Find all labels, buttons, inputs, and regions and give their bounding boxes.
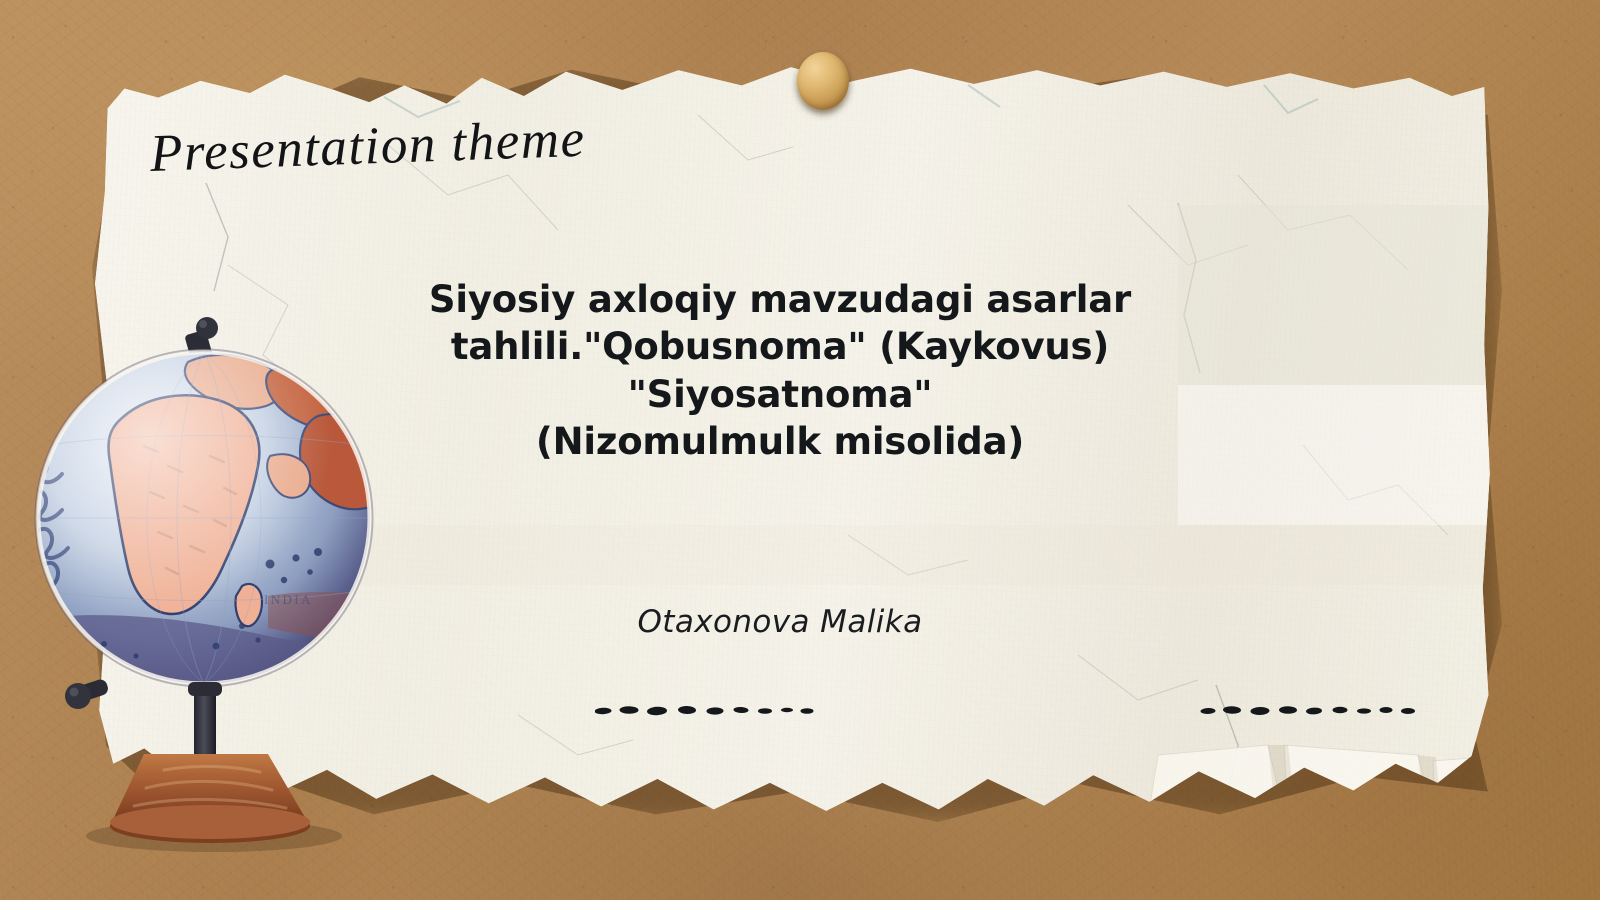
slide-title-line-3: (Nizomulmulk misolida) (300, 418, 1260, 465)
slide-title-line-1: Siyosiy axloqiy mavzudagi asarlar (300, 276, 1260, 323)
slide-title-line-2: tahlili."Qobusnoma" (Kaykovus) "Siyosatn… (300, 323, 1260, 418)
dashed-rule-right (1200, 698, 1420, 722)
pin-head (797, 52, 849, 110)
presentation-slide: INDIA (0, 0, 1600, 900)
slide-title: Siyosiy axloqiy mavzudagi asarlar tahlil… (300, 276, 1260, 465)
globe-post (194, 690, 216, 762)
author-name: Otaxonova Malika (300, 604, 1260, 640)
push-pin-icon (797, 52, 849, 110)
dashed-rule-left (595, 698, 815, 722)
globe-pivot-knob (65, 678, 110, 709)
